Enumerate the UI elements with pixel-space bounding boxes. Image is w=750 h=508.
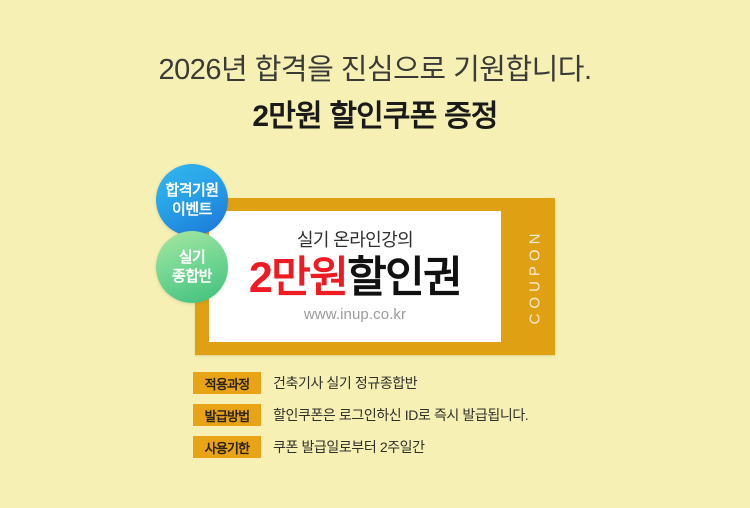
coupon-side-band: COUPON (515, 198, 555, 355)
coupon-headline: 2만원할인권 (249, 256, 461, 301)
event-badge-line1: 합격기원 (165, 181, 218, 200)
info-tag-validity: 사용기한 (193, 436, 261, 458)
course-badge-line1: 실기 (179, 248, 206, 267)
coupon-info-list: 적용과정 건축기사 실기 정규종합반 발급방법 할인쿠폰은 로그인하신 ID로 … (193, 372, 528, 458)
info-value-validity: 쿠폰 발급일로부터 2주일간 (273, 437, 425, 457)
promo-banner: 2026년 합격을 진심으로 기원합니다. 2만원 할인쿠폰 증정 실기 온라인… (0, 0, 750, 508)
coupon-inner-panel: 실기 온라인강의 2만원할인권 www.inup.co.kr (209, 211, 501, 342)
coupon-card[interactable]: 실기 온라인강의 2만원할인권 www.inup.co.kr COUPON (195, 198, 555, 355)
headline-secondary: 2만원 할인쿠폰 증정 (0, 98, 750, 136)
coupon-subtitle: 실기 온라인강의 (297, 231, 413, 249)
course-badge: 실기 종합반 (156, 231, 228, 303)
info-value-course: 건축기사 실기 정규종합반 (273, 373, 417, 393)
headline-primary: 2026년 합격을 진심으로 기원합니다. (0, 52, 750, 88)
coupon-amount: 2만원 (249, 254, 347, 302)
info-row: 사용기한 쿠폰 발급일로부터 2주일간 (193, 436, 528, 458)
headline-block: 2026년 합격을 진심으로 기원합니다. 2만원 할인쿠폰 증정 (0, 52, 750, 136)
event-badge: 합격기원 이벤트 (156, 164, 228, 236)
event-badge-line2: 이벤트 (172, 200, 212, 219)
info-row: 적용과정 건축기사 실기 정규종합반 (193, 372, 528, 394)
info-row: 발급방법 할인쿠폰은 로그인하신 ID로 즉시 발급됩니다. (193, 404, 528, 426)
info-tag-course: 적용과정 (193, 372, 261, 394)
course-badge-line2: 종합반 (172, 267, 212, 286)
info-tag-issue-method: 발급방법 (193, 404, 261, 426)
coupon-url: www.inup.co.kr (304, 307, 406, 322)
info-value-issue-method: 할인쿠폰은 로그인하신 ID로 즉시 발급됩니다. (273, 405, 528, 425)
coupon-word: 할인권 (347, 254, 461, 302)
coupon-band-label: COUPON (527, 229, 544, 325)
